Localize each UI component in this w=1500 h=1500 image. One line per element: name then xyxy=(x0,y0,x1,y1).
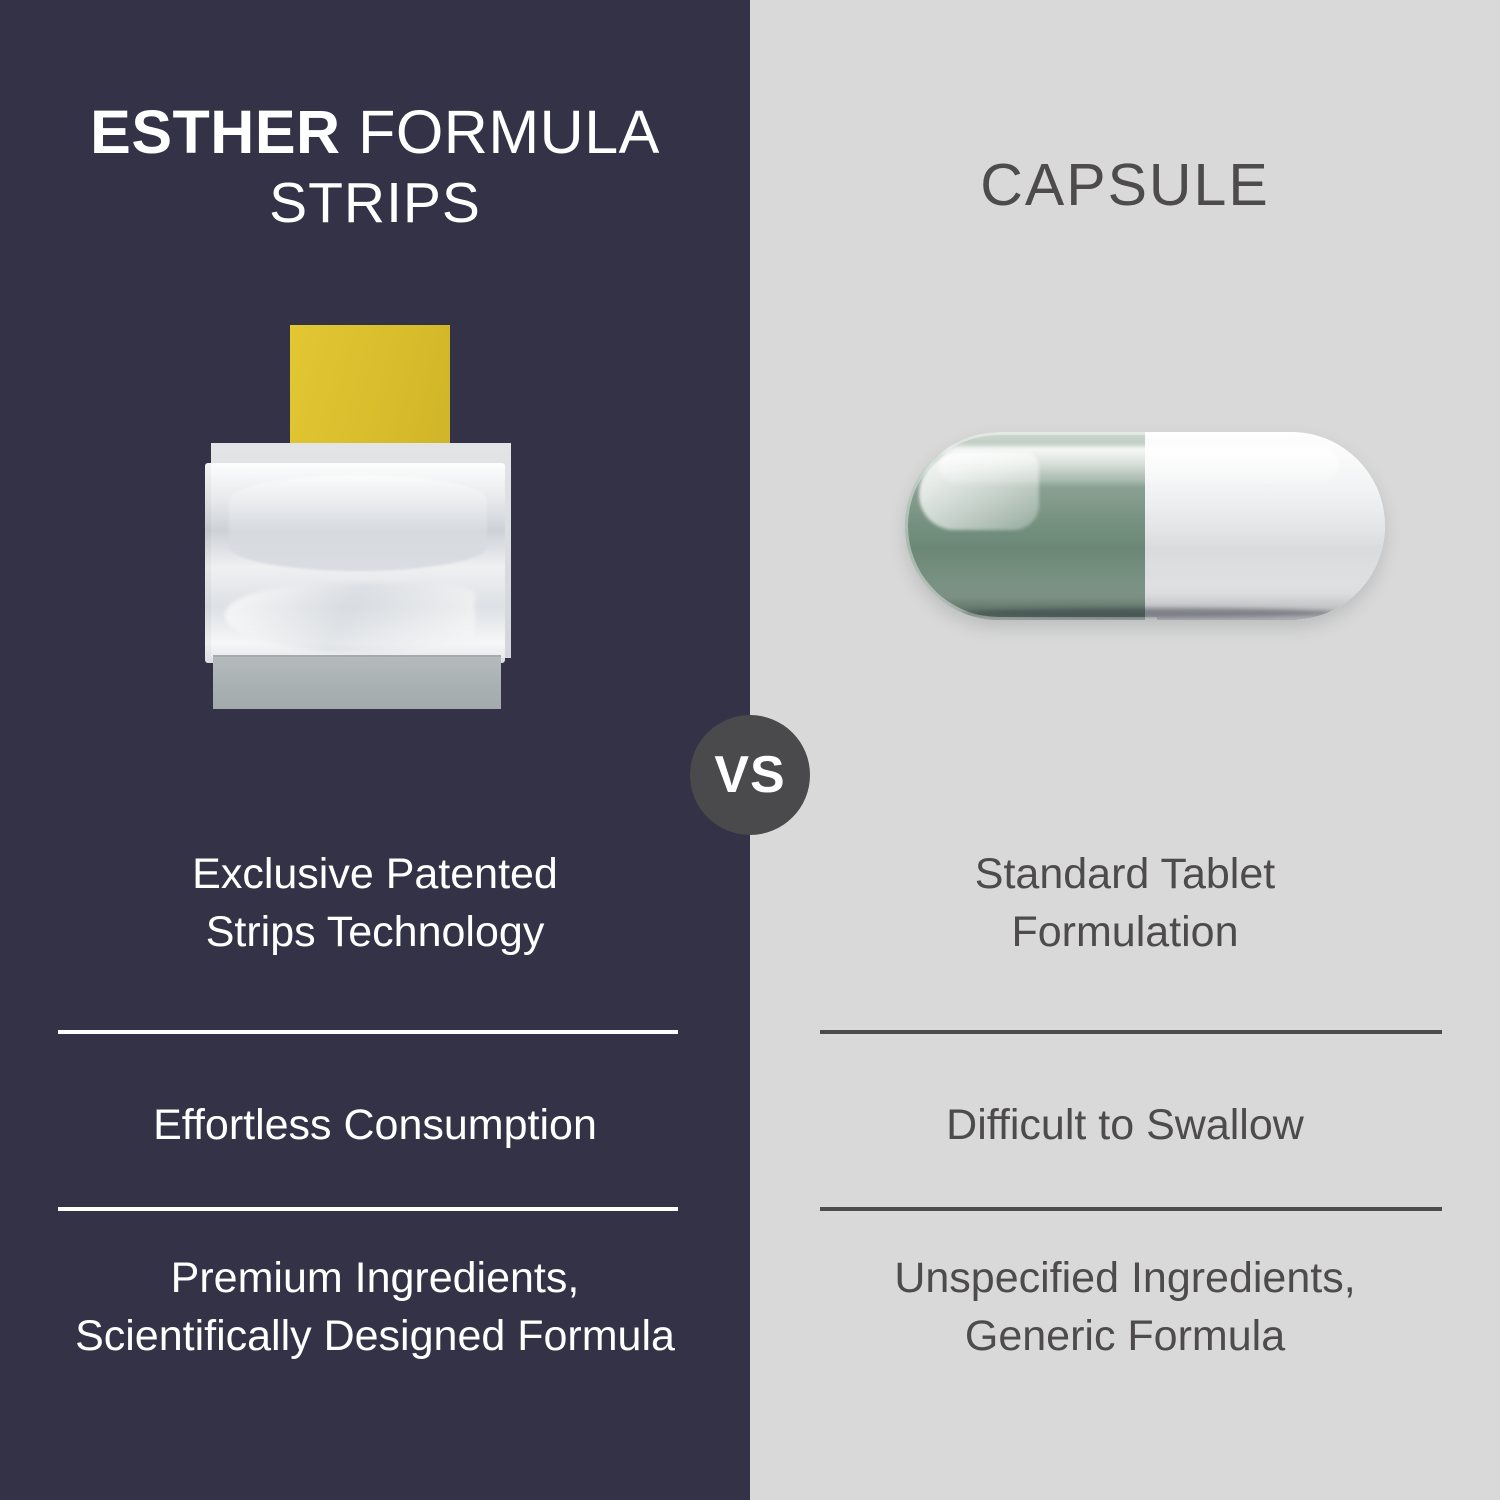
feature-item: Exclusive Patented Strips Technology xyxy=(0,845,750,961)
feature-item: Effortless Consumption xyxy=(0,1096,750,1154)
brand-name-esther: ESTHER xyxy=(90,98,340,166)
capsule-title: CAPSULE xyxy=(750,152,1500,218)
capsule-bottom-shadow xyxy=(961,608,1341,618)
left-column-esther-formula-strips: ESTHER FORMULA STRIPS Exclusive Patented… xyxy=(0,0,750,1500)
feature-divider xyxy=(820,1207,1442,1211)
right-column-capsule: CAPSULE Standard Tablet Formulation Diff… xyxy=(750,0,1500,1500)
feature-item: Standard Tablet Formulation xyxy=(750,845,1500,961)
feature-label: Effortless Consumption xyxy=(0,1096,750,1154)
feature-divider xyxy=(58,1207,678,1211)
capsule-rim xyxy=(905,432,1157,620)
strips-pouch-icon xyxy=(205,325,525,715)
vs-badge-label: VS xyxy=(714,745,785,805)
feature-label: Unspecified Ingredients, Generic Formula xyxy=(750,1249,1500,1365)
pouch-fold-highlight xyxy=(229,475,487,571)
feature-label: Exclusive Patented Strips Technology xyxy=(0,845,750,961)
product-comparison-infographic: ESTHER FORMULA STRIPS Exclusive Patented… xyxy=(0,0,1500,1500)
capsule-shell xyxy=(905,432,1385,620)
feature-label: Difficult to Swallow xyxy=(750,1096,1500,1154)
left-column-heading: ESTHER FORMULA STRIPS xyxy=(0,98,750,236)
capsule-pill-icon xyxy=(905,432,1385,620)
right-column-heading: CAPSULE xyxy=(750,152,1500,218)
vs-badge: VS xyxy=(690,715,810,835)
feature-divider xyxy=(820,1030,1442,1034)
brand-title-line: ESTHER FORMULA xyxy=(0,98,750,166)
brand-subtitle-strips: STRIPS xyxy=(0,172,750,236)
feature-label: Premium Ingredients, Scientifically Desi… xyxy=(0,1249,750,1365)
pouch-base xyxy=(213,657,501,709)
feature-divider xyxy=(58,1030,678,1034)
brand-name-formula: FORMULA xyxy=(358,98,660,166)
feature-item: Difficult to Swallow xyxy=(750,1096,1500,1154)
feature-item: Unspecified Ingredients, Generic Formula xyxy=(750,1249,1500,1365)
feature-label: Standard Tablet Formulation xyxy=(750,845,1500,961)
feature-item: Premium Ingredients, Scientifically Desi… xyxy=(0,1249,750,1365)
